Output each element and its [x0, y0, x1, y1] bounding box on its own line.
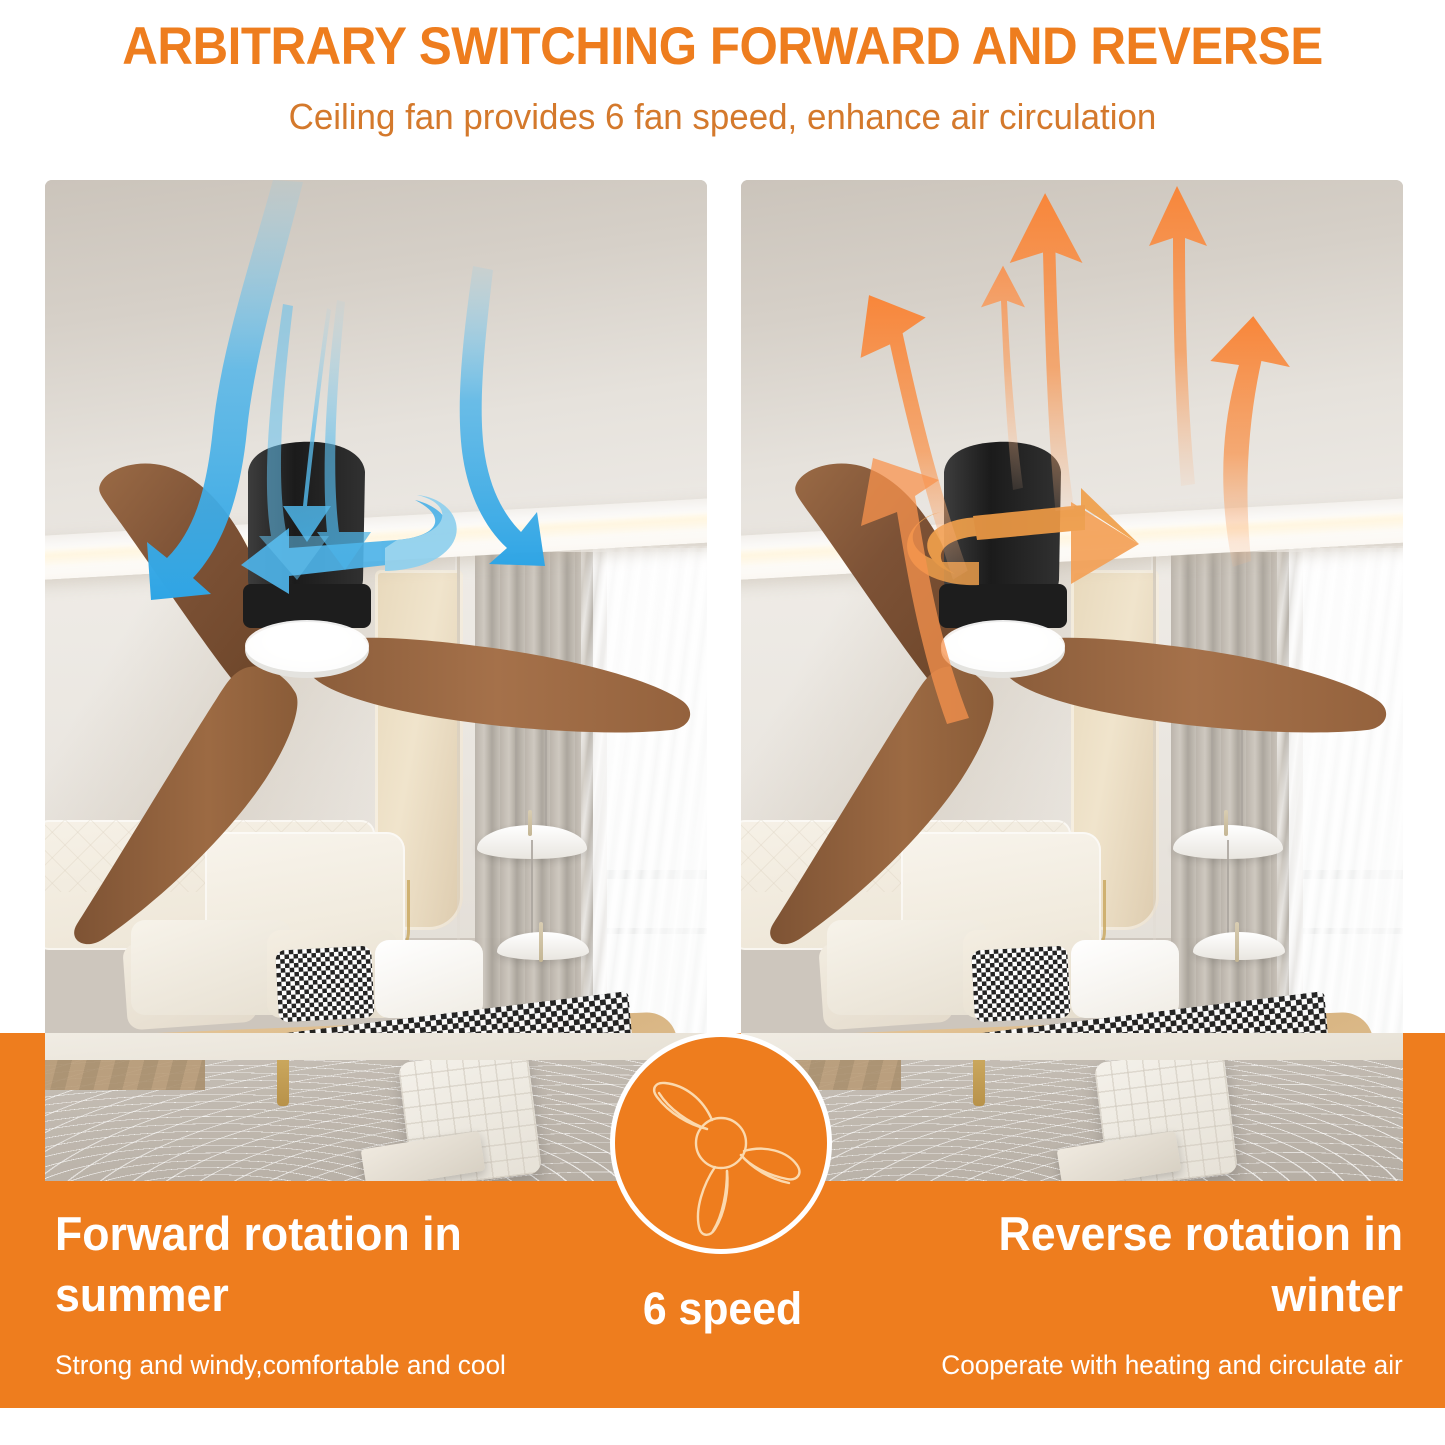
- header: ARBITRARY SWITCHING FORWARD AND REVERSE …: [0, 0, 1445, 175]
- page-subtitle: Ceiling fan provides 6 fan speed, enhanc…: [22, 96, 1424, 138]
- airflow-arrows-blue: [45, 180, 707, 1180]
- right-panel-photo: [741, 180, 1403, 1180]
- page-title: ARBITRARY SWITCHING FORWARD AND REVERSE: [51, 16, 1395, 77]
- airflow-arrows-orange: [741, 180, 1403, 1180]
- right-subtext: Cooperate with heating and circulate air: [941, 1350, 1403, 1381]
- airflow-arrow: [1210, 316, 1290, 567]
- left-panel-photo: [45, 180, 707, 1180]
- airflow-arrow: [283, 308, 331, 542]
- product-infographic: ARBITRARY SWITCHING FORWARD AND REVERSE …: [0, 0, 1445, 1445]
- airflow-arrow: [1010, 193, 1083, 511]
- left-panel-bottom-clip: [45, 1033, 707, 1181]
- airflow-arrow: [981, 266, 1025, 490]
- right-heading: Reverse rotation in winter: [909, 1203, 1403, 1325]
- airflow-arrow: [1149, 186, 1207, 486]
- fan-speed-badge: [610, 1032, 832, 1254]
- airflow-arrow: [259, 304, 329, 580]
- right-panel-bottom-clip: [741, 1033, 1403, 1181]
- airflow-arrow: [861, 458, 969, 724]
- left-subtext: Strong and windy,comfortable and cool: [55, 1350, 506, 1381]
- fan-blades-icon: [615, 1037, 827, 1249]
- airflow-arrow: [460, 266, 545, 566]
